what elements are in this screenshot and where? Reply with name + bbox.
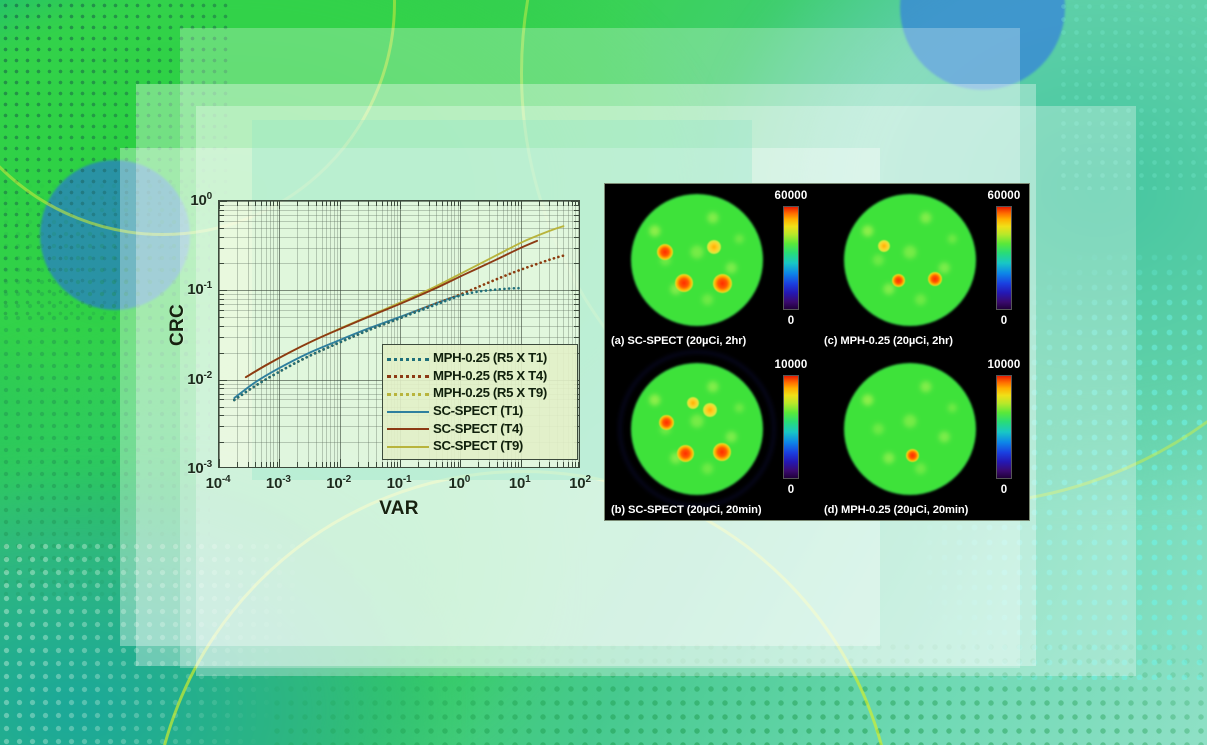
- lesion-b-4: [703, 403, 717, 417]
- ytick-label-3: 10-3: [187, 459, 212, 477]
- colorbar-max-d: 10000: [988, 359, 1021, 371]
- lesion-c-3: [878, 240, 890, 252]
- legend-line-2: [387, 393, 429, 396]
- legend-label-0: MPH-0.25 (R5 X T1): [433, 350, 547, 365]
- legend-swatch-0: [387, 352, 429, 364]
- spect-panel-d: 10000 0 (d) MPH-0.25 (20µCi, 20min): [818, 353, 1031, 522]
- spect-panel-c: 60000 0 (c) MPH-0.25 (20µCi, 2hr): [818, 184, 1031, 353]
- ytick-label-2: 10-2: [187, 370, 212, 388]
- figure-container: 10-410-310-210-1100101102 10010-110-210-…: [150, 176, 1040, 548]
- colorbar-min-a: 0: [788, 315, 795, 327]
- xtick-label-5: 101: [509, 474, 531, 492]
- lesion-b-3: [713, 443, 731, 461]
- legend-item-2[interactable]: MPH-0.25 (R5 X T9): [387, 384, 572, 402]
- legend-line-0: [387, 358, 429, 361]
- legend-label-3: SC-SPECT (T1): [433, 403, 523, 418]
- colorbar-d: 10000 0: [996, 375, 1012, 479]
- chart-yaxis-label: CRC: [167, 235, 189, 415]
- legend-item-0[interactable]: MPH-0.25 (R5 X T1): [387, 349, 572, 367]
- legend-swatch-2: [387, 387, 429, 399]
- legend-line-5: [387, 446, 429, 448]
- spect-panel-b: 10000 0 (b) SC-SPECT (20µCi, 20min): [605, 353, 818, 522]
- slide-canvas: 10-410-310-210-1100101102 10010-110-210-…: [0, 0, 1207, 745]
- colorbar-gradient-c: [996, 206, 1012, 310]
- legend-swatch-5: [387, 440, 429, 452]
- chart-xaxis-label: VAR: [218, 498, 580, 520]
- spect-caption-b: (b) SC-SPECT (20µCi, 20min): [611, 504, 761, 516]
- lesion-a-1: [657, 244, 673, 260]
- lesion-c-1: [892, 274, 905, 287]
- ytick-label-1: 10-1: [187, 280, 212, 298]
- phantom-texture-b: [631, 363, 763, 495]
- legend-line-1: [387, 375, 429, 378]
- lesion-a-3: [713, 274, 732, 293]
- colorbar-c: 60000 0: [996, 206, 1012, 310]
- colorbar-max-b: 10000: [775, 359, 808, 371]
- legend-item-5[interactable]: SC-SPECT (T9): [387, 437, 572, 455]
- crc-var-chart: 10-410-310-210-1100101102 10010-110-210-…: [150, 176, 590, 548]
- phantom-image-b: [631, 363, 763, 495]
- phantom-texture-d: [844, 363, 976, 495]
- lesion-d-1: [906, 449, 919, 462]
- colorbar-max-c: 60000: [988, 190, 1021, 202]
- colorbar-min-c: 0: [1001, 315, 1008, 327]
- legend-item-3[interactable]: SC-SPECT (T1): [387, 402, 572, 420]
- lesion-a-4: [707, 240, 721, 254]
- phantom-texture-c: [844, 194, 976, 326]
- spect-caption-d: (d) MPH-0.25 (20µCi, 20min): [824, 504, 968, 516]
- legend-item-4[interactable]: SC-SPECT (T4): [387, 419, 572, 437]
- legend-swatch-4: [387, 422, 429, 434]
- colorbar-max-a: 60000: [775, 190, 808, 202]
- xtick-label-6: 102: [569, 474, 591, 492]
- lesion-a-2: [675, 274, 693, 292]
- spect-caption-c: (c) MPH-0.25 (20µCi, 2hr): [824, 335, 953, 347]
- phantom-texture-a: [631, 194, 763, 326]
- colorbar-gradient-b: [783, 375, 799, 479]
- ytick-label-0: 100: [190, 191, 212, 209]
- xtick-label-1: 10-3: [266, 474, 291, 492]
- phantom-image-d: [844, 363, 976, 495]
- colorbar-a: 60000 0: [783, 206, 799, 310]
- colorbar-min-b: 0: [788, 484, 795, 496]
- colorbar-gradient-a: [783, 206, 799, 310]
- legend-swatch-3: [387, 405, 429, 417]
- xtick-label-3: 10-1: [387, 474, 412, 492]
- spect-panel-a: 60000 0 (a) SC-SPECT (20µCi, 2hr): [605, 184, 818, 353]
- chart-legend[interactable]: MPH-0.25 (R5 X T1)MPH-0.25 (R5 X T4)MPH-…: [382, 344, 578, 460]
- spect-image-panel: 60000 0 (a) SC-SPECT (20µCi, 2hr): [604, 183, 1030, 521]
- legend-label-2: MPH-0.25 (R5 X T9): [433, 385, 547, 400]
- legend-line-3: [387, 411, 429, 413]
- phantom-image-c: [844, 194, 976, 326]
- legend-item-1[interactable]: MPH-0.25 (R5 X T4): [387, 367, 572, 385]
- legend-line-4: [387, 428, 429, 430]
- colorbar-b: 10000 0: [783, 375, 799, 479]
- lesion-b-5: [687, 397, 699, 409]
- legend-label-4: SC-SPECT (T4): [433, 421, 523, 436]
- xtick-label-2: 10-2: [326, 474, 351, 492]
- lesion-b-2: [677, 445, 694, 462]
- lesion-b-1: [659, 415, 674, 430]
- colorbar-gradient-d: [996, 375, 1012, 479]
- spect-caption-a: (a) SC-SPECT (20µCi, 2hr): [611, 335, 746, 347]
- lesion-c-2: [928, 272, 942, 286]
- colorbar-min-d: 0: [1001, 484, 1008, 496]
- xtick-label-4: 100: [448, 474, 470, 492]
- legend-label-1: MPH-0.25 (R5 X T4): [433, 368, 547, 383]
- phantom-image-a: [631, 194, 763, 326]
- legend-swatch-1: [387, 369, 429, 381]
- legend-label-5: SC-SPECT (T9): [433, 438, 523, 453]
